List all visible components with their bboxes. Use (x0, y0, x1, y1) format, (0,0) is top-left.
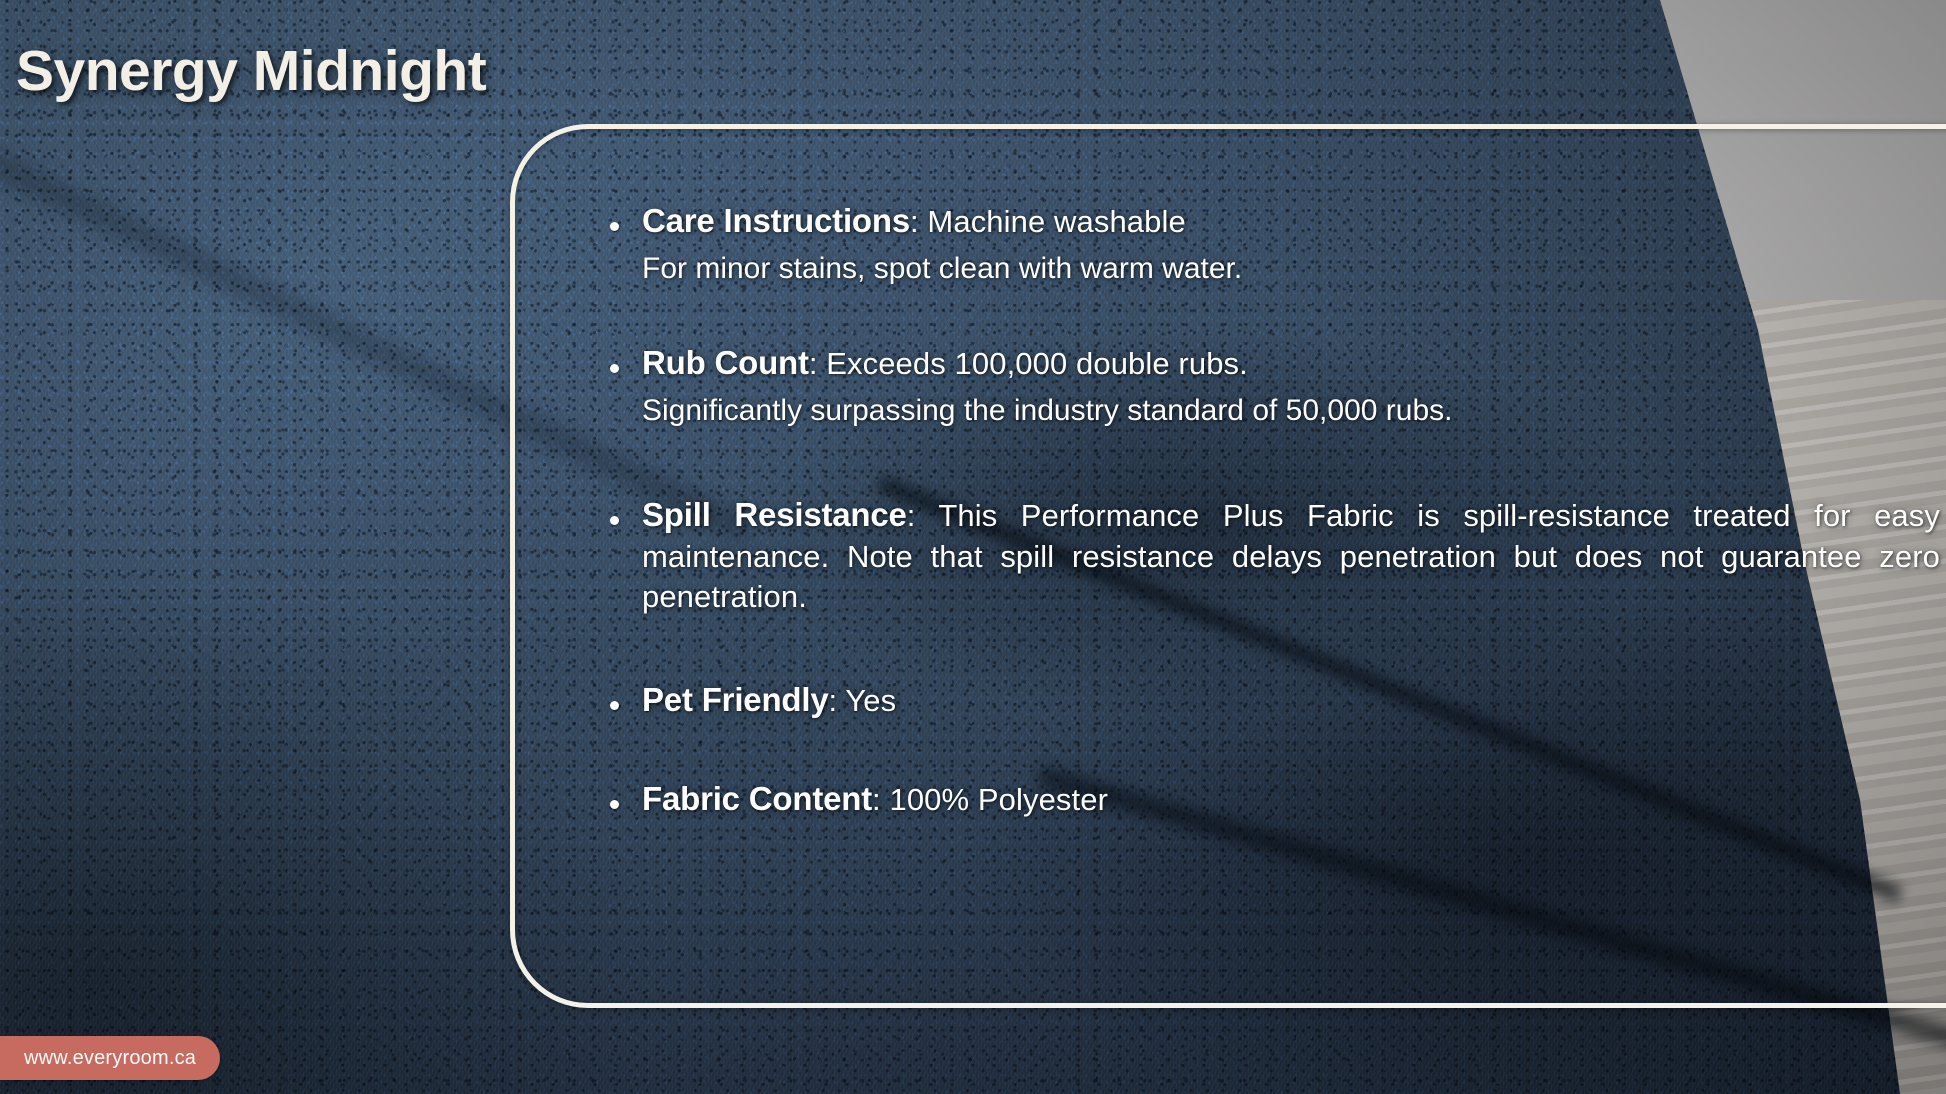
spec-panel: Care Instructions: Machine washable For … (600, 200, 1940, 821)
spec-line: Spill Resistance: This Performance Plus … (642, 494, 1940, 617)
spec-list: Care Instructions: Machine washable For … (600, 200, 1940, 821)
spec-subtext: Significantly surpassing the industry st… (642, 391, 1940, 430)
spec-value: Machine washable (919, 204, 1186, 239)
spec-subtext: For minor stains, spot clean with warm w… (642, 249, 1940, 288)
spec-label: Rub Count (642, 344, 809, 381)
watermark-label: www.everyroom.ca (24, 1047, 196, 1070)
spec-separator: : (828, 683, 837, 718)
list-item: Care Instructions: Machine washable For … (600, 200, 1940, 288)
page-title: Synergy Midnight (16, 38, 486, 104)
spec-separator: : (872, 782, 881, 817)
spec-value: Exceeds 100,000 double rubs. (818, 346, 1248, 381)
spec-line: Pet Friendly: Yes (642, 679, 1940, 722)
spec-label: Care Instructions (642, 202, 910, 239)
spec-value: Yes (837, 683, 896, 718)
slide-canvas: Synergy Midnight Care Instructions: Mach… (0, 0, 1946, 1094)
spec-separator: : (809, 346, 818, 381)
list-item: Pet Friendly: Yes (600, 679, 1940, 722)
list-item: Fabric Content: 100% Polyester (600, 778, 1940, 821)
website-watermark[interactable]: www.everyroom.ca (0, 1036, 220, 1080)
spec-label: Spill Resistance (642, 496, 907, 533)
spec-value: 100% Polyester (881, 782, 1108, 817)
spec-label: Pet Friendly (642, 681, 828, 718)
spec-line: Fabric Content: 100% Polyester (642, 778, 1940, 821)
spec-line: Rub Count: Exceeds 100,000 double rubs. (642, 342, 1940, 385)
list-item: Rub Count: Exceeds 100,000 double rubs. … (600, 342, 1940, 430)
spec-label: Fabric Content (642, 780, 872, 817)
spec-separator: : (910, 204, 919, 239)
list-item: Spill Resistance: This Performance Plus … (600, 494, 1940, 617)
spec-line: Care Instructions: Machine washable (642, 200, 1940, 243)
